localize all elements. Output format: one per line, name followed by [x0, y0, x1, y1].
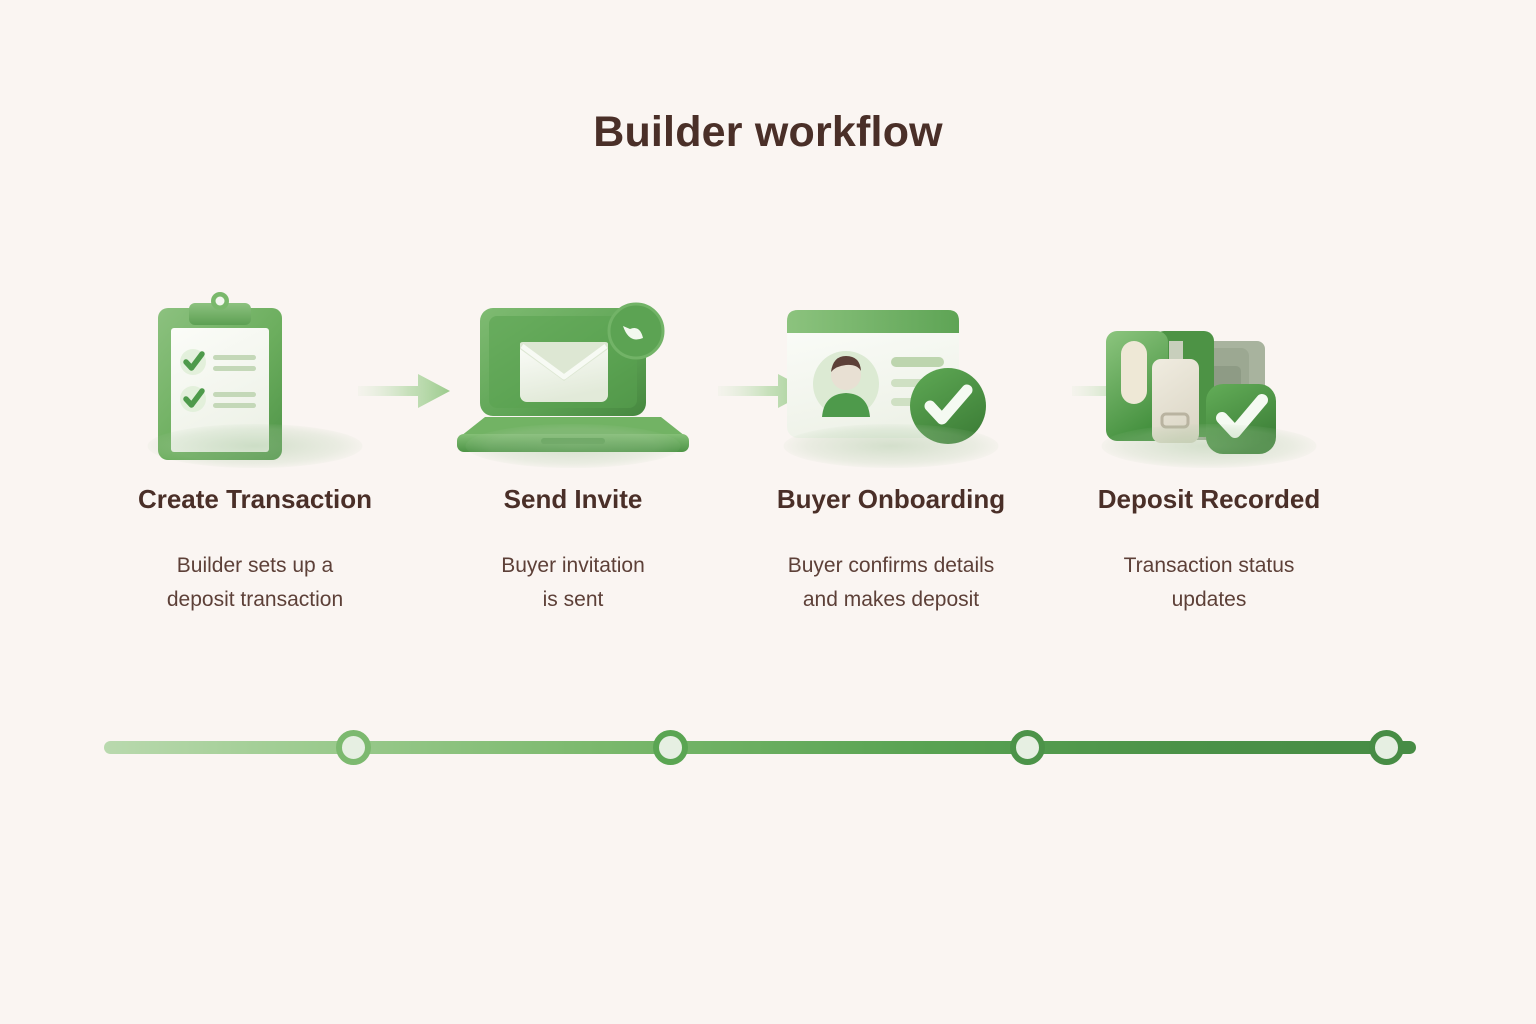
icon-ground-shadow [466, 424, 681, 468]
step-label: Send Invite [504, 484, 643, 515]
step-label: Deposit Recorded [1098, 484, 1321, 515]
timeline-marker-4[interactable] [1369, 730, 1404, 765]
step-description: Builder sets up adeposit transaction [167, 549, 343, 617]
icon-ground-shadow [148, 424, 363, 468]
workflow-step-deposit-recorded: Deposit Recorded Transaction statusupdat… [1050, 286, 1368, 617]
step-description: Buyer invitationis sent [501, 549, 645, 617]
step-description: Buyer confirms detailsand makes deposit [788, 549, 995, 617]
step-label: Create Transaction [138, 484, 372, 515]
icon-ground-shadow [784, 424, 999, 468]
timeline-marker-1[interactable] [336, 730, 371, 765]
timeline-marker-2[interactable] [653, 730, 688, 765]
workflow-steps: Create Transaction Builder sets up adepo… [96, 286, 1440, 617]
icon-stage-4 [1059, 286, 1359, 476]
timeline-track [104, 741, 1416, 754]
workflow-step-send-invite: Send Invite Buyer invitationis sent [414, 286, 732, 617]
timeline-marker-3[interactable] [1010, 730, 1045, 765]
icon-stage-1 [105, 286, 405, 476]
workflow-step-create-transaction: Create Transaction Builder sets up adepo… [96, 286, 414, 617]
step-label: Buyer Onboarding [777, 484, 1005, 515]
progress-timeline [104, 722, 1416, 778]
icon-stage-2 [423, 286, 723, 476]
workflow-step-buyer-onboarding: Buyer Onboarding Buyer confirms detailsa… [732, 286, 1050, 617]
step-description: Transaction statusupdates [1124, 549, 1295, 617]
icon-ground-shadow [1102, 424, 1317, 468]
icon-stage-3 [741, 286, 1041, 476]
page-title: Builder workflow [0, 108, 1536, 157]
